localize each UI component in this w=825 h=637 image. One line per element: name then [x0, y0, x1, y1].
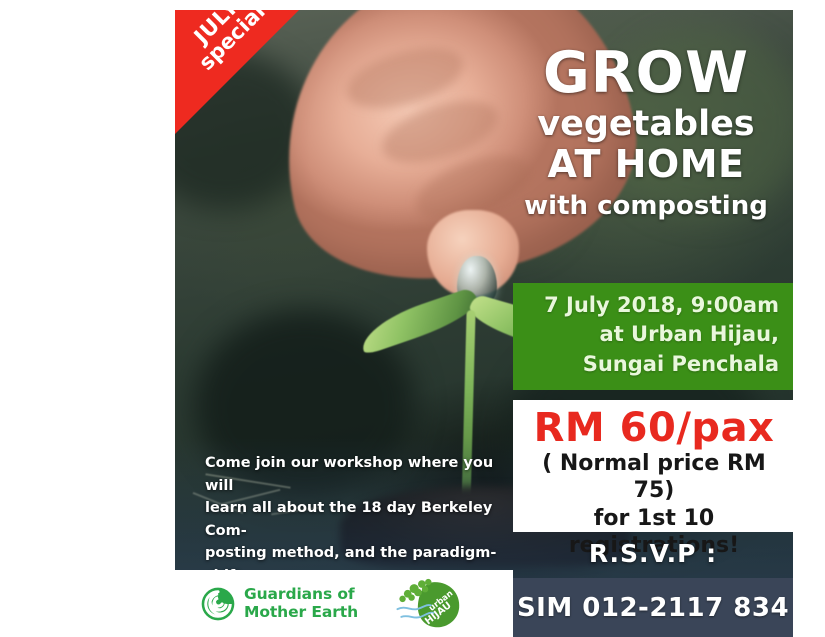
- rsvp-phone-number[interactable]: SIM 012-2117 834: [517, 593, 789, 623]
- blurb-line-1: Come join our workshop where you will: [205, 452, 515, 497]
- urban-hijau-leaf-icon: urban HIJAU: [388, 577, 466, 631]
- event-details-banner: 7 July 2018, 9:00am at Urban Hijau, Sung…: [513, 283, 793, 390]
- gme-wordmark: Guardians of Mother Earth: [244, 586, 358, 621]
- guardians-of-mother-earth-logo: Guardians of Mother Earth: [201, 586, 358, 621]
- poster: JULY special GROW vegetables AT HOME wit…: [175, 10, 793, 637]
- rsvp-contact-box[interactable]: SIM 012-2117 834: [513, 578, 793, 637]
- price-normal-note: ( Normal price RM 75): [527, 450, 781, 505]
- blurb-line-2: learn all about the 18 day Berkeley Com-: [205, 497, 515, 542]
- logo-strip: Guardians of Mother Earth urban HIJAU: [175, 570, 513, 637]
- spiral-circle-icon: [201, 587, 235, 621]
- event-venue: at Urban Hijau,: [523, 320, 779, 349]
- event-location: Sungai Penchala: [523, 350, 779, 379]
- gme-line-1: Guardians of: [244, 586, 358, 604]
- headline-vegetables: vegetables: [505, 105, 787, 144]
- gme-line-2: Mother Earth: [244, 604, 358, 622]
- price-amount: RM 60/pax: [527, 407, 781, 450]
- event-datetime: 7 July 2018, 9:00am: [523, 291, 779, 320]
- rsvp-label: R.S.V.P :: [513, 539, 793, 568]
- headline-composting: with composting: [505, 191, 787, 222]
- headline-grow: GROW: [505, 46, 787, 101]
- seedling-leaf-left: [355, 287, 482, 356]
- price-box: RM 60/pax ( Normal price RM 75) for 1st …: [513, 400, 793, 532]
- headline: GROW vegetables AT HOME with composting: [505, 46, 787, 222]
- july-special-ribbon: [175, 10, 299, 134]
- headline-at-home: AT HOME: [505, 144, 787, 186]
